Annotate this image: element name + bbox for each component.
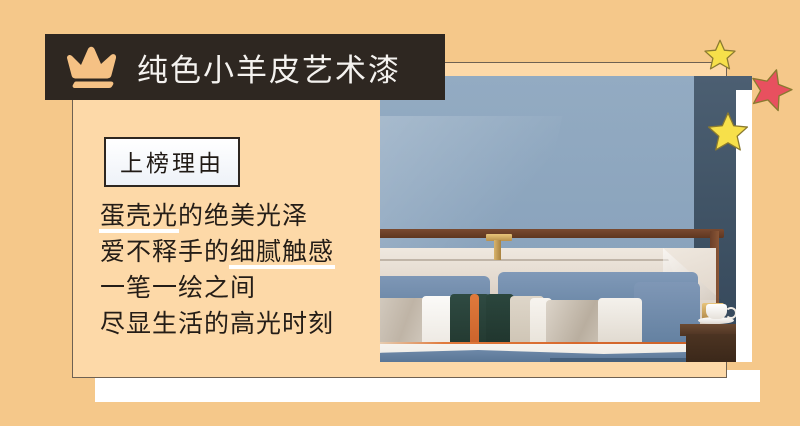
star-icon-yellow-large — [706, 110, 750, 154]
bedroom-photo — [380, 76, 752, 362]
poster-canvas: 纯色小羊皮艺术漆 上榜理由 蛋壳光的绝美光泽 爱不释手的细腻触感 一笔一绘之间 … — [0, 0, 800, 426]
reason-line-3: 一笔一绘之间 — [100, 270, 380, 306]
poster-title: 纯色小羊皮艺术漆 — [137, 45, 401, 90]
headboard-seam — [380, 259, 700, 261]
title-bar: 纯色小羊皮艺术漆 — [45, 34, 445, 100]
photo-inner — [380, 76, 752, 362]
star-icon-yellow-small — [703, 38, 737, 72]
reason-line-3-text: 一笔一绘之间 — [100, 273, 256, 302]
reason-line-4-text: 尽显生活的高光时刻 — [100, 309, 334, 338]
coffee-cup — [706, 304, 727, 319]
reason-line-2: 爱不释手的细腻触感 — [100, 234, 380, 270]
star-icon-red — [748, 66, 794, 112]
headboard-frame-top — [380, 229, 724, 238]
reason-badge: 上榜理由 — [104, 137, 240, 187]
crown-icon — [63, 44, 125, 90]
reason-line-2-highlight: 细腻触感 — [230, 234, 334, 270]
reason-line-1: 蛋壳光的绝美光泽 — [100, 198, 380, 234]
reason-lines: 蛋壳光的绝美光泽 爱不释手的细腻触感 一笔一绘之间 尽显生活的高光时刻 — [100, 198, 380, 342]
reason-line-1-highlight: 蛋壳光 — [100, 198, 178, 234]
reason-line-4: 尽显生活的高光时刻 — [100, 306, 380, 342]
reason-line-1-rest: 的绝美光泽 — [178, 201, 308, 230]
reason-line-2-pre: 爱不释手的 — [100, 237, 230, 266]
gold-stem — [494, 240, 501, 260]
